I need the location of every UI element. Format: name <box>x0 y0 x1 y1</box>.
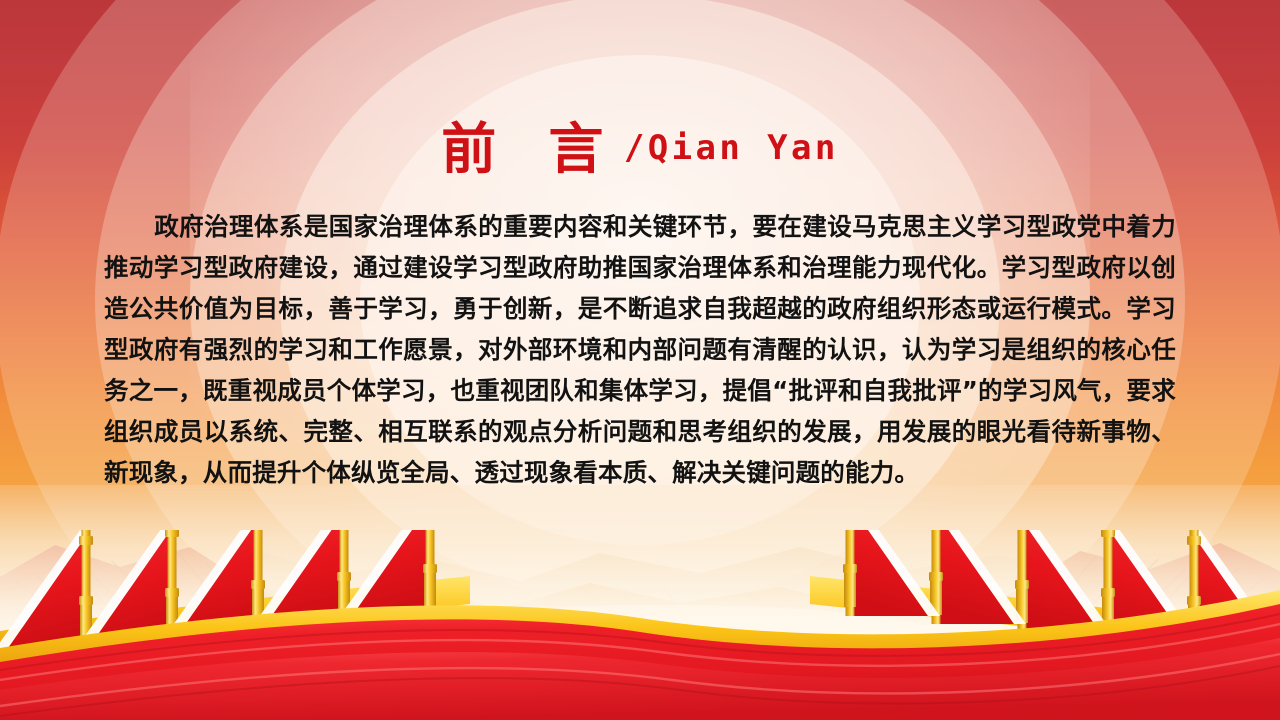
preface-slide: 前 言/Qian Yan 政府治理体系是国家治理体系的重要内容和关键环节，要在建… <box>0 0 1280 720</box>
page-title: 前 言/Qian Yan <box>0 104 1280 184</box>
foreground-decor <box>0 530 1280 720</box>
title-pinyin: /Qian Yan <box>624 128 839 168</box>
preface-paragraph: 政府治理体系是国家治理体系的重要内容和关键环节，要在建设马克思主义学习型政党中着… <box>104 206 1176 493</box>
title-chinese: 前 言 <box>441 117 620 181</box>
